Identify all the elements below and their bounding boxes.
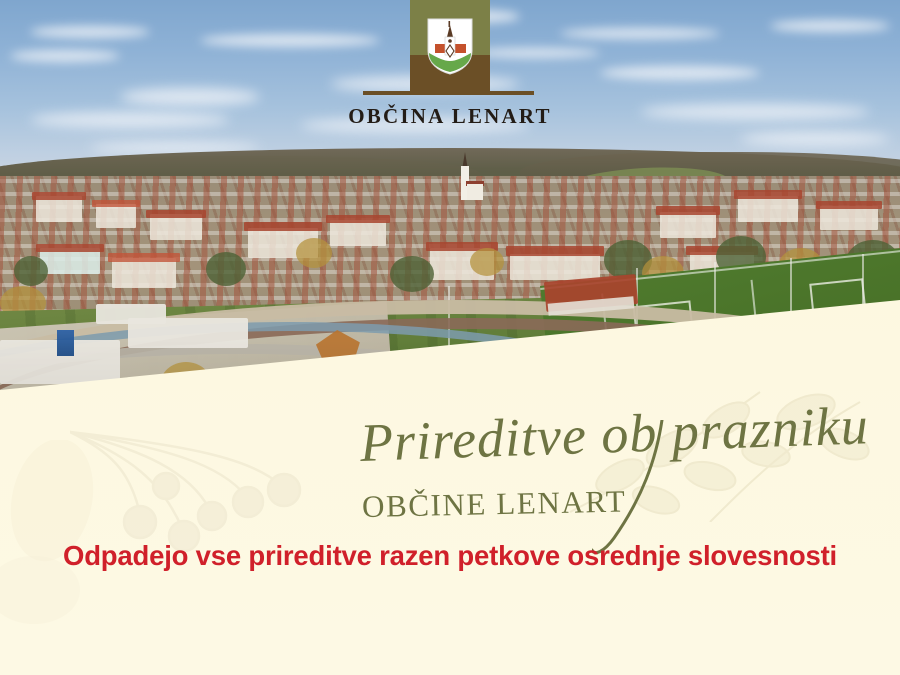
- page-subtitle: OBČINE LENART: [362, 483, 627, 525]
- cancellation-notice: Odpadejo vse prireditve razen petkove os…: [0, 540, 900, 572]
- coat-of-arms-icon: [426, 17, 474, 75]
- soft-glow-watermark: [0, 440, 180, 630]
- event-poster: OBČINA LENART Prireditve ob prazniku OBČ…: [0, 0, 900, 675]
- organization-name: OBČINA LENART: [0, 104, 900, 129]
- logo-horizontal-rule: [363, 91, 534, 95]
